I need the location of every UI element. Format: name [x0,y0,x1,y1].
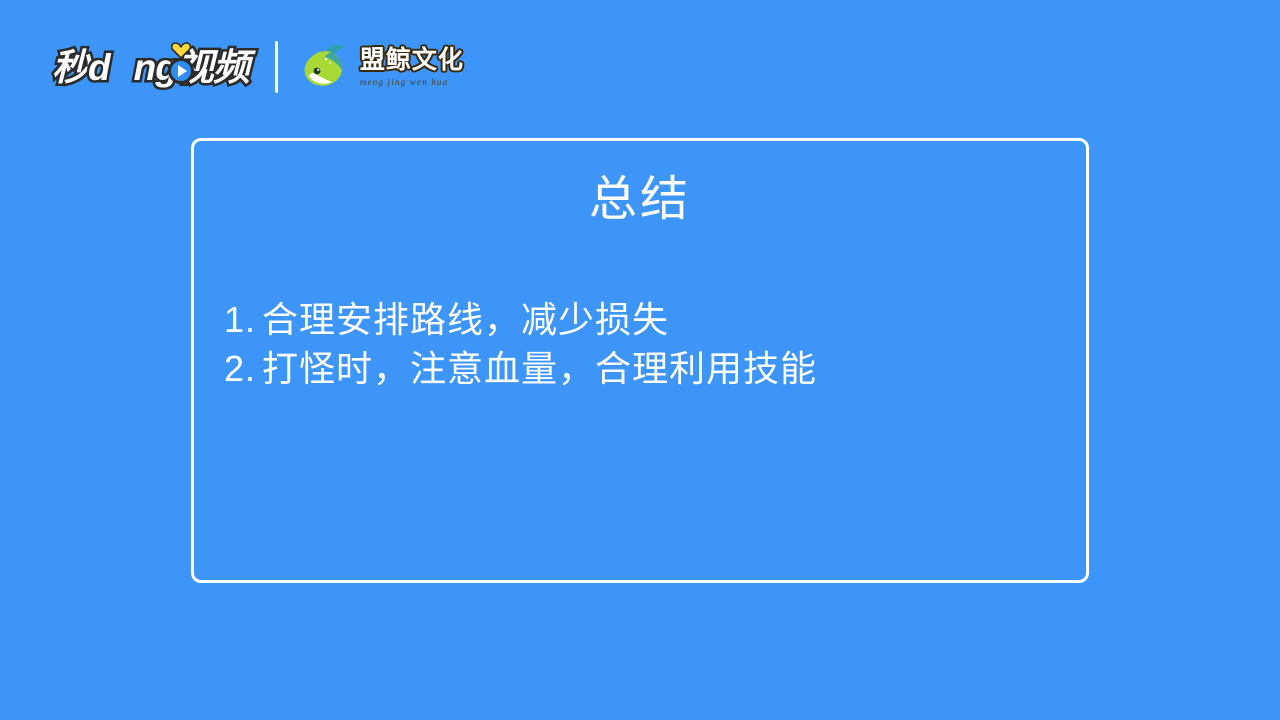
play-button-icon [168,58,194,84]
list-item-number: 2. [224,345,262,393]
mengjing-name: 盟鲸文化 [360,47,464,73]
list-item-number: 1. [224,296,262,344]
brand-divider [275,41,278,93]
mengjing-logo: 盟鲸文化 meng jing wen hua [300,39,464,95]
miaodong-wordmark: 秒dng视频 [52,49,249,86]
miaodong-word-left: 秒 [52,47,88,88]
list-item-text: 合理安排路线，减少损失 [262,300,669,341]
page-title: 总结 [194,173,1086,226]
list-item: 1.合理安排路线，减少损失 [224,296,1056,345]
list-item-text: 打怪时，注意血量，合理利用技能 [262,349,817,390]
heart-icon [171,41,191,59]
mengjing-pinyin: meng jing wen hua [360,77,464,87]
miaodong-word-mid: d [88,47,110,88]
slide-panel: 总结 1.合理安排路线，减少损失 2.打怪时，注意血量，合理利用技能 [191,138,1089,583]
miaodong-logo: 秒dng视频 [52,39,249,95]
list-item: 2.打怪时，注意血量，合理利用技能 [224,345,1056,394]
brand-bar: 秒dng视频 盟鲸文化 meng jing [52,32,464,102]
summary-list: 1.合理安排路线，减少损失 2.打怪时，注意血量，合理利用技能 [224,296,1056,394]
whale-icon [300,43,352,91]
